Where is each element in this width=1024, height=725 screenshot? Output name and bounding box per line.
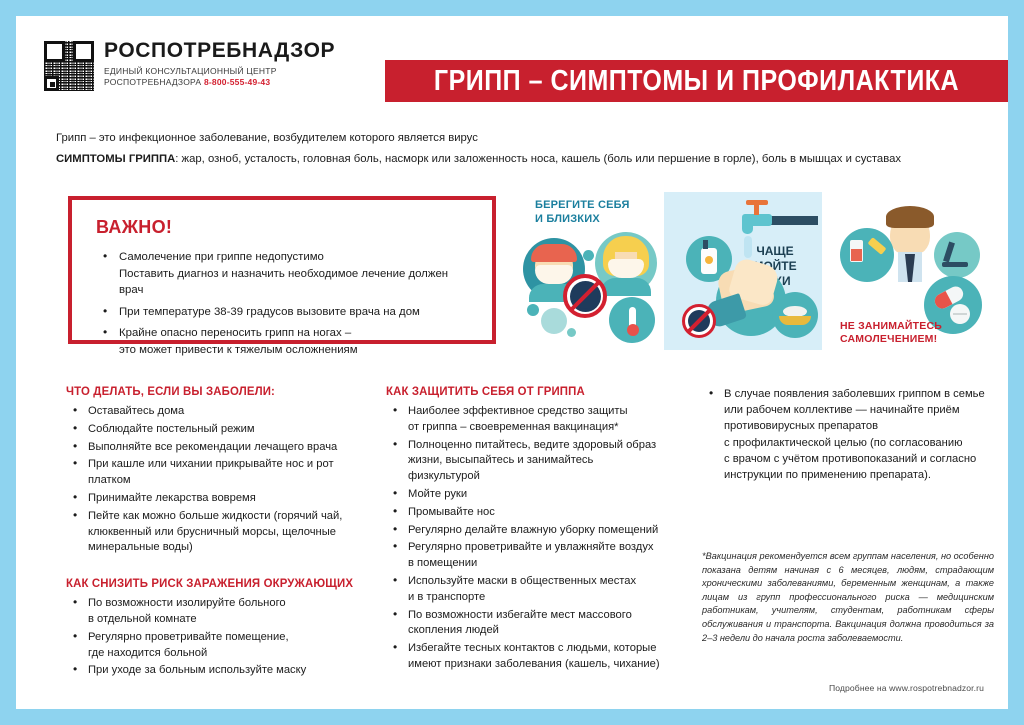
tablet-icon xyxy=(950,304,970,324)
water-stream xyxy=(744,236,752,258)
tablet-score-line xyxy=(953,313,967,315)
important-title: ВАЖНО! xyxy=(96,217,474,238)
decor-dot xyxy=(527,304,539,316)
face-mask-shape xyxy=(608,259,644,278)
section-title-what-to-do: ЧТО ДЕЛАТЬ, ЕСЛИ ВЫ ЗАБОЛЕЛИ: xyxy=(66,386,366,399)
doctor-hair xyxy=(886,206,934,228)
list-item: Полноценно питайтесь, ведите здоровый об… xyxy=(386,438,686,485)
illustration-no-self-medication: НЕ ЗАНИМАЙТЕСЬ САМОЛЕЧЕНИЕМ! xyxy=(828,192,988,352)
panel-c-caption-line1: НЕ ЗАНИМАЙТЕСЬ xyxy=(840,320,942,332)
soap-dispenser-icon xyxy=(701,248,717,274)
vial-liquid xyxy=(851,249,862,261)
list-item: Промывайте нос xyxy=(386,505,686,521)
important-box: ВАЖНО! Самолечение при гриппе недопустим… xyxy=(68,196,496,344)
qr-code-icon xyxy=(44,41,94,91)
faucet-spout xyxy=(742,222,753,234)
brand-text: РОСПОТРЕБНАДЗОР ЕДИНЫЙ КОНСУЛЬТАЦИОННЫЙ … xyxy=(104,39,335,88)
list-item: Соблюдайте постельный режим xyxy=(66,422,366,438)
brand-title: РОСПОТРЕБНАДЗОР xyxy=(104,40,335,62)
panel-c-caption: НЕ ЗАНИМАЙТЕСЬ САМОЛЕЧЕНИЕМ! xyxy=(840,320,942,346)
soap-dish-shape xyxy=(779,316,811,325)
syringe-icon xyxy=(868,237,887,255)
title-banner: ГРИПП – СИМПТОМЫ И ПРОФИЛАКТИКА xyxy=(385,60,1008,102)
illustration-wash-hands: ЧАЩЕ МОЙТЕ РУКИ xyxy=(664,192,822,350)
vaccine-vial-icon xyxy=(850,240,863,262)
section-title-protect: КАК ЗАЩИТИТЬ СЕБЯ ОТ ГРИППА xyxy=(386,386,686,399)
microscope-base xyxy=(942,262,968,267)
list-item: Избегайте тесных контактов с людьми, кот… xyxy=(386,641,686,673)
list-item: Оставайтесь дома xyxy=(66,404,366,420)
list-item: Регулярно проветривайте и увлажняйте воз… xyxy=(386,540,686,572)
vaccine-badge xyxy=(840,228,894,282)
illustration-protect-yourself: БЕРЕГИТЕ СЕБЯ И БЛИЗКИХ xyxy=(521,192,661,352)
vaccination-footnote: *Вакцинация рекомендуется всем группам н… xyxy=(702,550,994,645)
list-item: Наиболее эффективное средство защитыот г… xyxy=(386,404,686,436)
thermometer-badge xyxy=(609,297,655,343)
decor-dot xyxy=(567,328,576,337)
list-item: Пейте как можно больше жидкости (горячий… xyxy=(66,509,366,556)
dispenser-pump xyxy=(703,240,708,249)
shoulders-shape xyxy=(601,278,651,296)
poster-page: РОСПОТРЕБНАДЗОР ЕДИНЫЙ КОНСУЛЬТАЦИОННЫЙ … xyxy=(16,16,1008,709)
faucet-pipe xyxy=(768,216,818,225)
list-item: Выполняйте все рекомендации лечащего вра… xyxy=(66,440,366,456)
panel-c-caption-line2: САМОЛЕЧЕНИЕМ! xyxy=(840,333,937,345)
panel-a-caption-line1: БЕРЕГИТЕ СЕБЯ xyxy=(535,199,630,211)
column-protection: КАК ЗАЩИТИТЬ СЕБЯ ОТ ГРИППА Наиболее эфф… xyxy=(386,386,686,675)
section-title-reduce-risk: КАК СНИЗИТЬ РИСК ЗАРАЖЕНИЯ ОКРУЖАЮЩИХ xyxy=(66,578,366,591)
list-reduce-risk: По возможности изолируйте больногов отде… xyxy=(66,596,366,679)
intro-block: Грипп – это инфекционное заболевание, во… xyxy=(56,129,986,168)
list-item: При температуре 38-39 градусов вызовите … xyxy=(96,304,474,321)
list-item: По возможности избегайте мест массовогос… xyxy=(386,608,686,640)
list-what-to-do: Оставайтесь домаСоблюдайте постельный ре… xyxy=(66,404,366,556)
list-item: По возможности изолируйте больногов отде… xyxy=(66,596,366,628)
intro-symptoms-text: : жар, озноб, усталость, головная боль, … xyxy=(175,153,901,165)
column-prophylaxis: В случае появления заболевших гриппом в … xyxy=(702,386,994,485)
list-item: В случае появления заболевших гриппом в … xyxy=(702,386,994,483)
bottle-label xyxy=(705,256,713,264)
virus-shape xyxy=(690,312,708,330)
intro-symptoms-label: СИМПТОМЫ ГРИППА xyxy=(56,153,175,165)
thermometer-icon xyxy=(629,307,636,331)
list-item: Мойте руки xyxy=(386,487,686,503)
list-item: Используйте маски в общественных местахи… xyxy=(386,574,686,606)
faucet-stem xyxy=(754,202,759,215)
cap-shape xyxy=(531,244,577,262)
list-item: Принимайте лекарства вовремя xyxy=(66,491,366,507)
important-list: Самолечение при гриппе недопустимоПостав… xyxy=(96,249,474,358)
decor-dot xyxy=(541,308,567,334)
decor-dot xyxy=(583,250,594,261)
list-prophylaxis: В случае появления заболевших гриппом в … xyxy=(702,386,994,483)
microscope-icon xyxy=(943,242,955,263)
page-title: ГРИПП – СИМПТОМЫ И ПРОФИЛАКТИКА xyxy=(434,64,959,98)
pill-half xyxy=(932,291,952,311)
brand-subtitle-line2: РОСПОТРЕБНАДЗОРА xyxy=(104,77,201,87)
list-item: При кашле или чихании прикрывайте нос и … xyxy=(66,457,366,489)
panel-a-caption: БЕРЕГИТЕ СЕБЯ И БЛИЗКИХ xyxy=(535,198,630,226)
brand-block: РОСПОТРЕБНАДЗОР ЕДИНЫЙ КОНСУЛЬТАЦИОННЫЙ … xyxy=(44,39,335,91)
list-protect: Наиболее эффективное средство защитыот г… xyxy=(386,404,686,673)
intro-symptoms: СИМПТОМЫ ГРИППА: жар, озноб, усталость, … xyxy=(56,150,986,168)
list-item: При уходе за больным используйте маску xyxy=(66,663,366,679)
panel-a-caption-line2: И БЛИЗКИХ xyxy=(535,213,600,225)
list-item: Самолечение при гриппе недопустимоПостав… xyxy=(96,249,474,299)
virus-prohibited-icon xyxy=(563,274,607,318)
brand-subtitle: ЕДИНЫЙ КОНСУЛЬТАЦИОННЫЙ ЦЕНТР РОСПОТРЕБН… xyxy=(104,66,335,88)
footer-website-link[interactable]: Подробнее на www.rospotrebnadzor.ru xyxy=(829,683,984,693)
list-item: Регулярно проветривайте помещение,где на… xyxy=(66,630,366,662)
list-item: Крайне опасно переносить грипп на ногах … xyxy=(96,325,474,358)
column-sick-advice: ЧТО ДЕЛАТЬ, ЕСЛИ ВЫ ЗАБОЛЕЛИ: Оставайтес… xyxy=(66,386,366,681)
virus-shape xyxy=(573,284,598,309)
soap-dish-badge xyxy=(772,292,818,338)
virus-prohibited-icon xyxy=(682,304,716,338)
brand-phone: 8-800-555-49-43 xyxy=(204,77,270,87)
intro-definition: Грипп – это инфекционное заболевание, во… xyxy=(56,129,986,147)
microscope-badge xyxy=(934,232,980,278)
list-item: Регулярно делайте влажную уборку помещен… xyxy=(386,523,686,539)
brand-subtitle-line1: ЕДИНЫЙ КОНСУЛЬТАЦИОННЫЙ ЦЕНТР xyxy=(104,66,277,76)
poster-header: РОСПОТРЕБНАДЗОР ЕДИНЫЙ КОНСУЛЬТАЦИОННЫЙ … xyxy=(16,16,1008,102)
column-spacer xyxy=(66,558,366,578)
